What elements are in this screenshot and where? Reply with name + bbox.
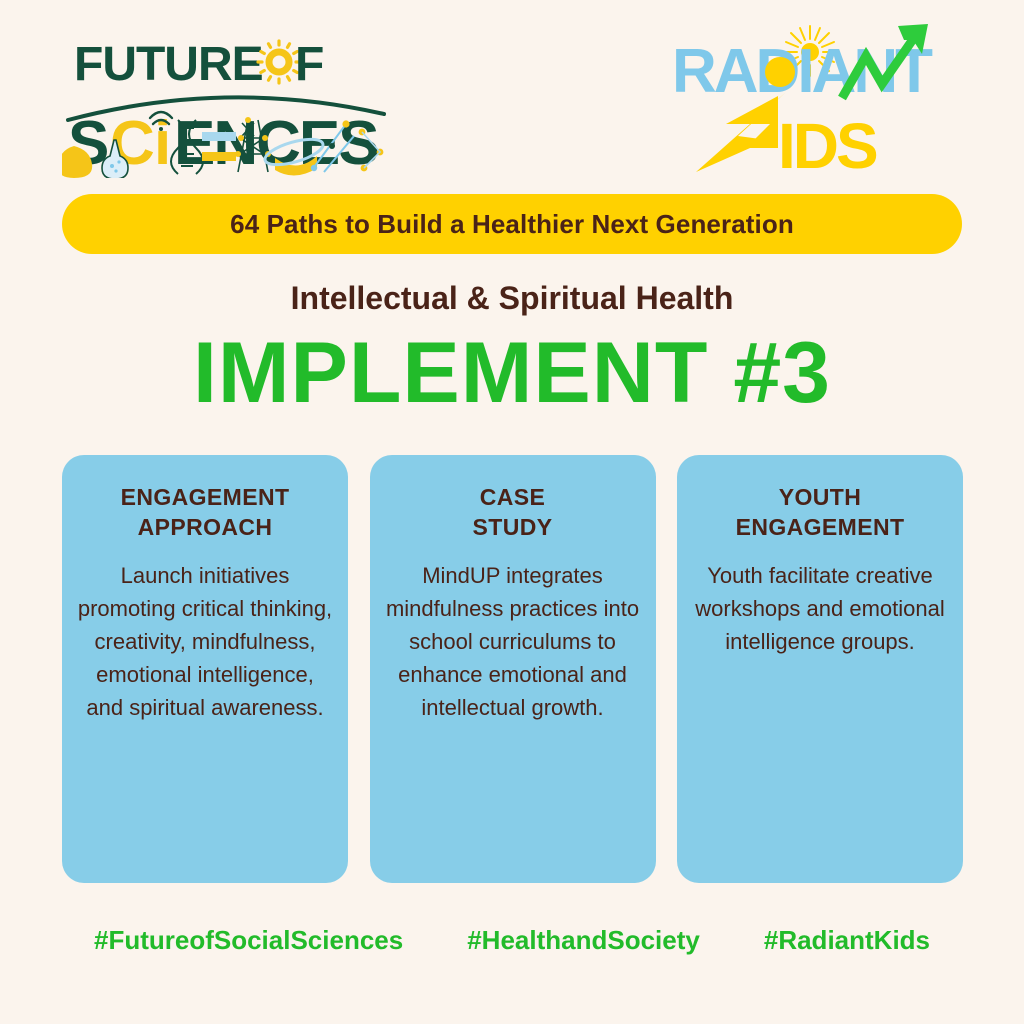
future-of-sciences-logo-art: FUTURE F — [62, 28, 392, 178]
molecule-node — [342, 120, 349, 127]
card-body: MindUP integrates mindfulness practices … — [384, 559, 642, 724]
hashtag-row: #FutureofSocialSciences #HealthandSociet… — [0, 925, 1024, 956]
card-case-study[interactable]: CASE STUDY MindUP integrates mindfulness… — [370, 455, 656, 883]
card-body: Launch initiatives promoting critical th… — [76, 559, 334, 724]
tagline-banner: 64 Paths to Build a Healthier Next Gener… — [62, 194, 962, 254]
svg-text:FUTURE: FUTURE — [74, 38, 263, 91]
radiant-dot — [765, 57, 795, 87]
card-engagement-approach[interactable]: ENGAGEMENT APPROACH Launch initiatives p… — [62, 455, 348, 883]
radiant-kids-logo-art: RADIANT IDS — [660, 20, 980, 180]
tagline-text: 64 Paths to Build a Healthier Next Gener… — [230, 209, 794, 240]
bar-blue — [202, 132, 236, 141]
bar-yellow — [202, 152, 236, 161]
page-title: IMPLEMENT #3 — [0, 328, 1024, 418]
hashtag-radiant-kids[interactable]: #RadiantKids — [764, 925, 930, 956]
svg-text:F: F — [295, 38, 324, 91]
molecule-node — [311, 165, 317, 171]
svg-text:IDS: IDS — [778, 110, 877, 180]
hashtag-health-and-society[interactable]: #HealthandSociety — [467, 925, 700, 956]
section-subtitle: Intellectual & Spiritual Health — [0, 280, 1024, 317]
card-title: YOUTH ENGAGEMENT — [736, 483, 905, 543]
card-body: Youth facilitate creative workshops and … — [691, 559, 949, 658]
card-title: CASE STUDY — [473, 483, 553, 543]
hashtag-future-of-social-sciences[interactable]: #FutureofSocialSciences — [94, 925, 403, 956]
radiant-kids-logo: RADIANT IDS — [660, 20, 980, 180]
card-group: ENGAGEMENT APPROACH Launch initiatives p… — [62, 455, 963, 883]
sun-icon — [258, 41, 300, 83]
poster-canvas: FUTURE F — [0, 0, 1024, 1024]
card-youth-engagement[interactable]: YOUTH ENGAGEMENT Youth facilitate creati… — [677, 455, 963, 883]
molecule-node — [329, 143, 335, 149]
future-of-sciences-logo: FUTURE F — [62, 28, 392, 178]
card-title: ENGAGEMENT APPROACH — [121, 483, 290, 543]
